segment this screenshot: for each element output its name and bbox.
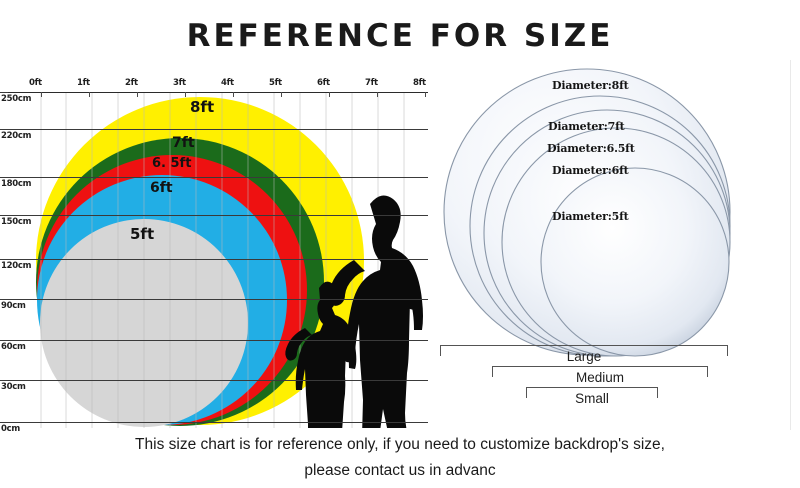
gridline-30cm xyxy=(0,380,428,381)
arc-label-8ft: 8ft xyxy=(190,98,214,116)
gridline-220cm xyxy=(0,129,428,130)
y-axis-label-120cm: 120cm xyxy=(1,261,31,271)
gridline-0cm xyxy=(0,422,428,423)
xtick-6ft xyxy=(329,92,330,97)
x-axis-label-7ft: 7ft xyxy=(365,78,378,88)
circle-diagram xyxy=(33,92,428,428)
x-axis-label-0ft: 0ft xyxy=(29,78,42,88)
x-axis-line xyxy=(8,92,428,93)
xtick-8ft xyxy=(425,92,426,97)
xtick-7ft xyxy=(377,92,378,97)
x-axis-label-6ft: 6ft xyxy=(317,78,330,88)
x-axis-label-4ft: 4ft xyxy=(221,78,234,88)
bracket-label-medium: Medium xyxy=(492,370,708,385)
y-axis-label-90cm: 90cm xyxy=(1,301,26,311)
right-edge-line xyxy=(790,60,791,430)
x-axis-label-8ft: 8ft xyxy=(413,78,426,88)
xtick-1ft xyxy=(89,92,90,97)
caption-line-1: This size chart is for reference only, i… xyxy=(135,436,665,453)
right-disc-panel: Diameter:8ft Diameter:7ft Diameter:6.5ft… xyxy=(430,60,770,430)
x-axis-label-5ft: 5ft xyxy=(269,78,282,88)
y-axis-label-250cm: 250cm xyxy=(1,94,31,104)
xtick-5ft xyxy=(281,92,282,97)
arc-label-6ft: 6ft xyxy=(150,180,173,196)
size-reference-chart: REFERENCE FOR SIZE xyxy=(0,0,800,488)
y-axis-label-30cm: 30cm xyxy=(1,382,26,392)
gridline-60cm xyxy=(0,340,428,341)
footer-caption: This size chart is for reference only, i… xyxy=(40,432,760,484)
disc-label-7ft: Diameter:7ft xyxy=(548,120,625,133)
y-axis-label-0cm: 0cm xyxy=(1,424,20,434)
arc-label-7ft: 7ft xyxy=(172,135,195,151)
x-axis-label-3ft: 3ft xyxy=(173,78,186,88)
caption-line-2: please contact us in advanc xyxy=(304,462,495,479)
y-axis-label-220cm: 220cm xyxy=(1,131,31,141)
xtick-0ft xyxy=(41,92,42,97)
disc-label-5ft: Diameter:5ft xyxy=(552,210,629,223)
x-axis-label-1ft: 1ft xyxy=(77,78,90,88)
disc-5ft xyxy=(541,168,729,356)
gridline-90cm xyxy=(0,299,428,300)
x-axis-label-2ft: 2ft xyxy=(125,78,138,88)
disc-label-8ft: Diameter:8ft xyxy=(552,79,629,92)
xtick-4ft xyxy=(233,92,234,97)
xtick-3ft xyxy=(185,92,186,97)
page-title: REFERENCE FOR SIZE xyxy=(0,18,800,54)
xtick-2ft xyxy=(137,92,138,97)
gridline-150cm xyxy=(0,215,428,216)
arc-label-6_5ft: 6. 5ft xyxy=(152,156,191,171)
bracket-label-large: Large xyxy=(440,349,728,364)
circles-svg xyxy=(33,92,428,428)
y-axis-label-60cm: 60cm xyxy=(1,342,26,352)
disc-label-6ft: Diameter:6ft xyxy=(552,164,629,177)
left-scale-panel: 0ft 1ft 2ft 3ft 4ft 5ft 6ft 7ft 8ft 250c… xyxy=(0,70,440,430)
gridline-120cm xyxy=(0,259,428,260)
arc-label-5ft: 5ft xyxy=(130,225,154,243)
y-axis-label-150cm: 150cm xyxy=(1,217,31,227)
bracket-label-small: Small xyxy=(526,391,658,406)
disc-label-6_5ft: Diameter:6.5ft xyxy=(547,142,635,155)
gridline-180cm xyxy=(0,177,428,178)
y-axis-label-180cm: 180cm xyxy=(1,179,31,189)
